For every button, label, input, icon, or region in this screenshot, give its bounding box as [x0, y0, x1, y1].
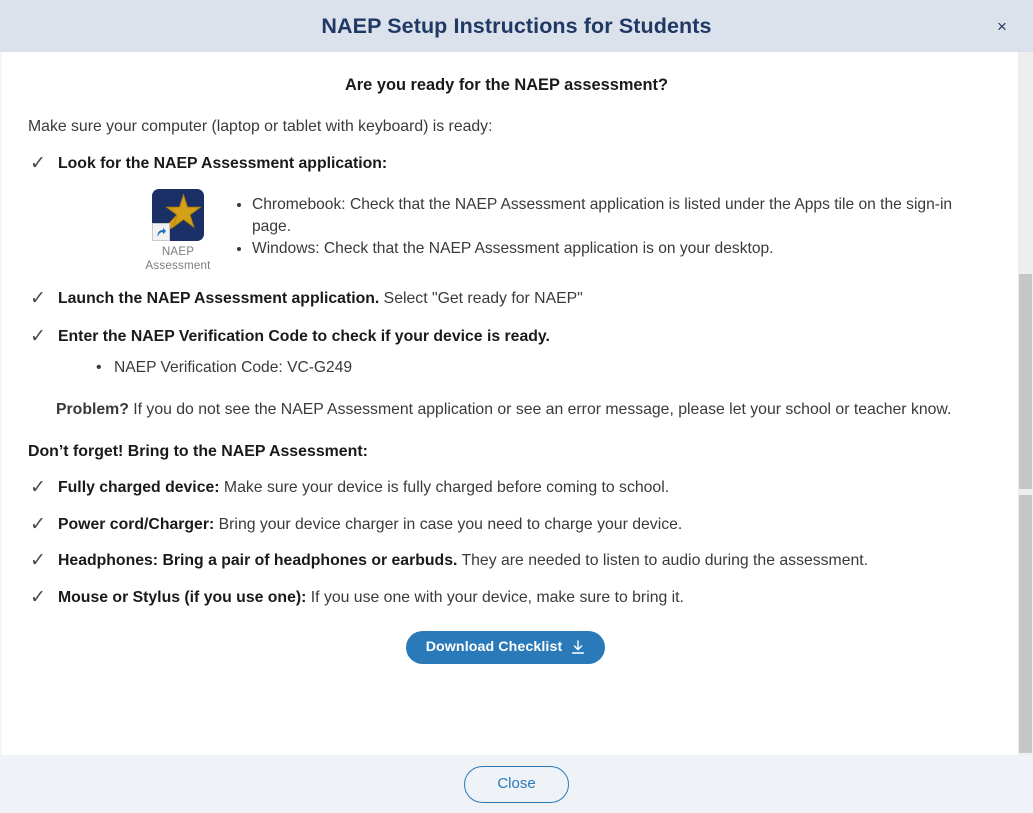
step-item-enter-verification-code: ✓ Enter the NAEP Verification Code to ch…	[28, 327, 993, 348]
bring-item-fully-charged-device: ✓ Fully charged device: Make sure your d…	[28, 478, 993, 499]
step-text: Look for the NAEP Assessment application…	[58, 154, 993, 175]
problem-rest-label: If you do not see the NAEP Assessment ap…	[129, 401, 951, 418]
modal-body: Are you ready for the NAEP assessment? M…	[0, 52, 1033, 755]
step-bold-label: Enter the NAEP Verification Code to chec…	[58, 328, 550, 345]
bring-item-power-cord: ✓ Power cord/Charger: Bring your device …	[28, 515, 993, 536]
bring-item-text: Fully charged device: Make sure your dev…	[58, 478, 993, 499]
bring-item-bold-label: Fully charged device:	[58, 479, 220, 496]
download-row: Download Checklist	[28, 631, 993, 664]
bring-item-text: Headphones: Bring a pair of headphones o…	[58, 551, 993, 572]
app-icon-label-line1: NAEP	[128, 245, 228, 259]
list-item: Windows: Check that the NAEP Assessment …	[252, 238, 993, 260]
step-text: Launch the NAEP Assessment application. …	[58, 289, 993, 310]
naep-assessment-app-icon	[152, 189, 204, 241]
instructions-content: Are you ready for the NAEP assessment? M…	[2, 52, 1033, 678]
download-checklist-button[interactable]: Download Checklist	[406, 631, 606, 664]
bring-item-bold-label: Mouse or Stylus (if you use one):	[58, 589, 306, 606]
step-item-launch-app: ✓ Launch the NAEP Assessment application…	[28, 289, 993, 310]
step-text: Enter the NAEP Verification Code to chec…	[58, 327, 993, 348]
list-item: Chromebook: Check that the NAEP Assessme…	[252, 194, 993, 237]
platform-bullet-list: Chromebook: Check that the NAEP Assessme…	[228, 187, 993, 261]
bring-item-rest-label: Make sure your device is fully charged b…	[220, 479, 670, 496]
step-item-look-for-app: ✓ Look for the NAEP Assessment applicati…	[28, 154, 993, 175]
step-rest-label: Select "Get ready for NAEP"	[379, 290, 583, 307]
check-icon: ✓	[28, 478, 58, 499]
problem-bold-label: Problem?	[56, 401, 129, 418]
verification-code-list: NAEP Verification Code: VC-G249	[28, 358, 993, 378]
check-icon: ✓	[28, 154, 58, 175]
bring-item-text: Power cord/Charger: Bring your device ch…	[58, 515, 993, 536]
problem-paragraph: Problem? If you do not see the NAEP Asse…	[56, 399, 993, 420]
bring-item-rest-label: Bring your device charger in case you ne…	[214, 516, 682, 533]
page-subtitle: Are you ready for the NAEP assessment?	[28, 75, 993, 96]
app-icon-and-platform-bullets: NAEP Assessment Chromebook: Check that t…	[28, 187, 993, 272]
bring-item-headphones: ✓ Headphones: Bring a pair of headphones…	[28, 551, 993, 572]
vertical-scrollbar[interactable]	[1018, 52, 1033, 755]
check-icon: ✓	[28, 327, 58, 348]
bring-items-list: ✓ Fully charged device: Make sure your d…	[28, 478, 993, 608]
close-icon[interactable]: ×	[989, 13, 1015, 39]
modal-title: NAEP Setup Instructions for Students	[321, 14, 711, 39]
modal-footer: Close	[0, 755, 1033, 813]
bring-item-rest-label: If you use one with your device, make su…	[306, 589, 684, 606]
download-checklist-label: Download Checklist	[426, 639, 563, 655]
check-icon: ✓	[28, 551, 58, 572]
bring-section-title: Don’t forget! Bring to the NAEP Assessme…	[28, 442, 993, 462]
list-item: NAEP Verification Code: VC-G249	[96, 358, 993, 378]
scrollbar-thumb[interactable]	[1019, 495, 1032, 753]
close-button[interactable]: Close	[464, 766, 568, 803]
app-icon-label: NAEP Assessment	[128, 245, 228, 272]
step-bold-label: Launch the NAEP Assessment application.	[58, 290, 379, 307]
bring-item-rest-label: They are needed to listen to audio durin…	[457, 552, 868, 569]
naep-setup-instructions-modal: NAEP Setup Instructions for Students × A…	[0, 0, 1033, 813]
shortcut-arrow-icon	[152, 223, 170, 241]
app-icon-wrapper: NAEP Assessment	[128, 187, 228, 272]
download-icon	[571, 640, 585, 655]
bring-item-text: Mouse or Stylus (if you use one): If you…	[58, 588, 993, 609]
scrollbar-thumb[interactable]	[1019, 274, 1032, 489]
check-icon: ✓	[28, 515, 58, 536]
step-bold-label: Look for the NAEP Assessment application…	[58, 155, 387, 172]
bring-item-bold-label: Headphones: Bring a pair of headphones o…	[58, 552, 457, 569]
app-icon-label-line2: Assessment	[128, 259, 228, 273]
check-icon: ✓	[28, 289, 58, 310]
intro-text: Make sure your computer (laptop or table…	[28, 117, 993, 137]
modal-header: NAEP Setup Instructions for Students ×	[0, 0, 1033, 52]
bring-item-bold-label: Power cord/Charger:	[58, 516, 214, 533]
check-icon: ✓	[28, 588, 58, 609]
bring-item-mouse-or-stylus: ✓ Mouse or Stylus (if you use one): If y…	[28, 588, 993, 609]
